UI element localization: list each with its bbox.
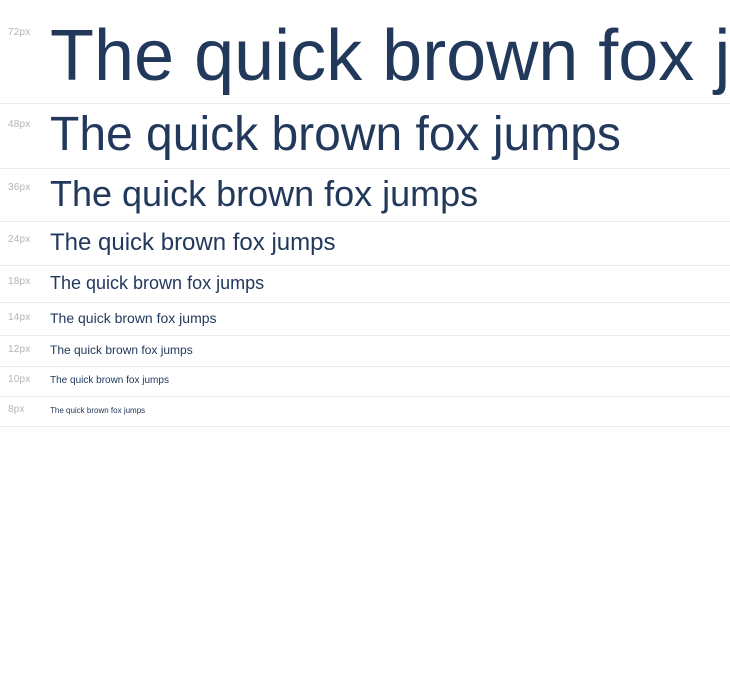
size-label: 48px	[8, 120, 31, 130]
sample-text: The quick brown fox jumps	[50, 336, 730, 365]
size-label: 14px	[8, 313, 31, 323]
specimen-row: 10px The quick brown fox jumps	[0, 367, 730, 397]
sample-text: The quick brown fox jumps	[50, 266, 730, 301]
sample-text: The quick brown fox jumps	[50, 13, 730, 99]
sample-text: The quick brown fox jumps	[50, 397, 730, 424]
font-specimen-sheet: 72px The quick brown fox jumps 48px The …	[0, 0, 730, 700]
specimen-row: 12px The quick brown fox jumps	[0, 336, 730, 367]
empty-canvas-area	[0, 427, 730, 687]
sample-text: The quick brown fox jumps	[50, 169, 730, 219]
size-label: 8px	[8, 405, 25, 415]
specimen-row: 36px The quick brown fox jumps	[0, 169, 730, 222]
sample-text: The quick brown fox jumps	[50, 222, 730, 264]
size-label: 18px	[8, 277, 31, 287]
specimen-row: 72px The quick brown fox jumps	[0, 0, 730, 104]
size-label: 10px	[8, 375, 31, 385]
specimen-row: 18px The quick brown fox jumps	[0, 266, 730, 303]
specimen-row: 24px The quick brown fox jumps	[0, 222, 730, 266]
sample-text: The quick brown fox jumps	[50, 303, 730, 334]
specimen-row: 8px The quick brown fox jumps	[0, 397, 730, 427]
sample-text: The quick brown fox jumps	[50, 104, 730, 166]
size-label: 24px	[8, 235, 31, 245]
sample-text: The quick brown fox jumps	[50, 367, 730, 395]
specimen-row: 14px The quick brown fox jumps	[0, 303, 730, 336]
size-label: 36px	[8, 183, 31, 193]
specimen-row: 48px The quick brown fox jumps	[0, 104, 730, 169]
size-label: 12px	[8, 345, 31, 355]
size-label: 72px	[8, 28, 31, 38]
